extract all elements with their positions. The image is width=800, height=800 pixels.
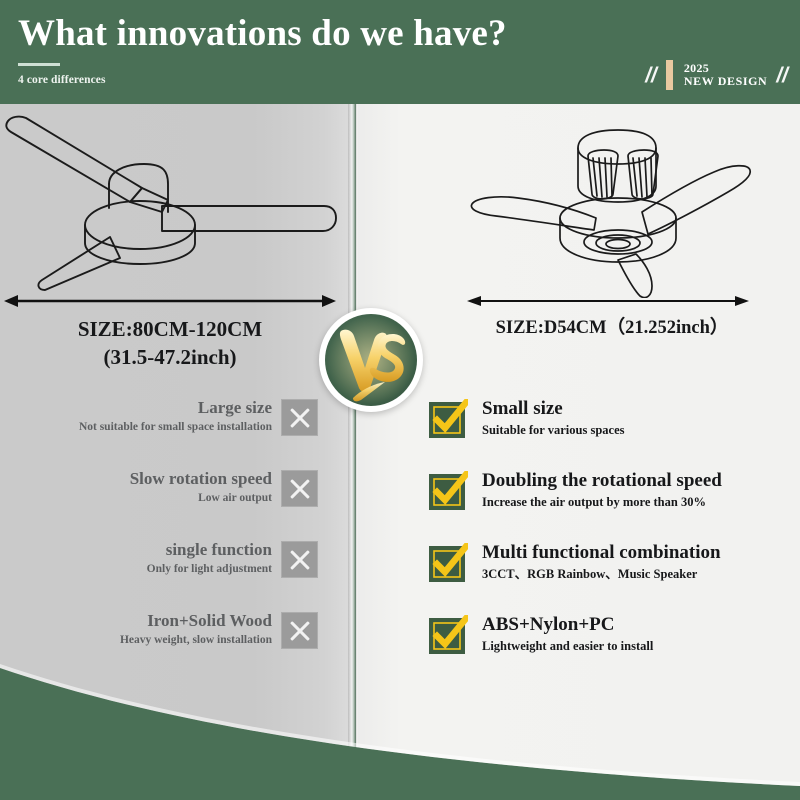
feature-list-left: Large size Not suitable for small space … — [0, 398, 318, 682]
dimension-arrow-right — [462, 290, 754, 312]
check-icon — [428, 543, 468, 583]
feature-subtitle: Increase the air output by more than 30% — [482, 495, 722, 510]
check-icon — [428, 471, 468, 511]
vs-badge-inner — [325, 314, 417, 406]
feature-text: single function Only for light adjustmen… — [147, 540, 272, 577]
badge-text-group: 2025 NEW DESIGN — [682, 62, 767, 89]
feature-text: Multi functional combination 3CCT、RGB Ra… — [482, 542, 721, 582]
x-icon — [281, 399, 318, 436]
feature-text: Slow rotation speed Low air output — [130, 469, 272, 506]
feature-subtitle: Only for light adjustment — [147, 563, 272, 577]
feature-title: Doubling the rotational speed — [482, 470, 722, 492]
feature-subtitle: Heavy weight, slow installation — [120, 634, 272, 648]
feature-title: ABS+Nylon+PC — [482, 614, 653, 636]
feature-subtitle: 3CCT、RGB Rainbow、Music Speaker — [482, 567, 721, 582]
feature-title: Multi functional combination — [482, 542, 721, 564]
page-subtitle: 4 core differences — [18, 74, 106, 86]
slash-right-icon: // — [776, 65, 788, 86]
page-fold-divider — [348, 104, 358, 800]
feature-title: Large size — [79, 398, 272, 418]
feature-text: Small size Suitable for various spaces — [482, 398, 625, 438]
list-item: ABS+Nylon+PC Lightweight and easier to i… — [428, 614, 796, 655]
feature-text: ABS+Nylon+PC Lightweight and easier to i… — [482, 614, 653, 654]
feature-list-right: Small size Suitable for various spaces D… — [428, 398, 796, 686]
vs-badge — [319, 308, 423, 412]
slash-left-icon: // — [645, 65, 657, 86]
badge-year: 2025 — [684, 62, 767, 75]
infographic-canvas: SIZE:80CM-120CM (31.5-47.2inch) SIZE:D54… — [0, 0, 800, 800]
check-icon — [428, 399, 468, 439]
feature-text: Iron+Solid Wood Heavy weight, slow insta… — [120, 611, 272, 648]
year-badge: // 2025 NEW DESIGN // — [645, 58, 788, 92]
feature-subtitle: Suitable for various spaces — [482, 423, 625, 438]
list-item: Iron+Solid Wood Heavy weight, slow insta… — [0, 611, 318, 649]
accent-rule — [18, 63, 60, 66]
feature-subtitle: Low air output — [130, 492, 272, 506]
size-right-line1: SIZE:D54CM（21.252inch） — [462, 316, 762, 340]
badge-label: NEW DESIGN — [684, 75, 767, 88]
feature-text: Large size Not suitable for small space … — [79, 398, 272, 435]
list-item: Doubling the rotational speed Increase t… — [428, 470, 796, 511]
header-bar: What innovations do we have? 4 core diff… — [0, 0, 800, 104]
feature-subtitle: Lightweight and easier to install — [482, 639, 653, 654]
list-item: Multi functional combination 3CCT、RGB Ra… — [428, 542, 796, 583]
list-item: Large size Not suitable for small space … — [0, 398, 318, 436]
page-title: What innovations do we have? — [18, 12, 507, 55]
ceiling-fan-illustration-large — [2, 112, 346, 292]
feature-title: Iron+Solid Wood — [120, 611, 272, 631]
feature-title: Small size — [482, 398, 625, 420]
list-item: Slow rotation speed Low air output — [0, 469, 318, 507]
dimension-arrow-left — [0, 290, 344, 312]
ceiling-fan-illustration-small — [466, 126, 762, 298]
size-caption-left: SIZE:80CM-120CM (31.5-47.2inch) — [0, 316, 340, 372]
size-left-line2: (31.5-47.2inch) — [0, 344, 340, 372]
size-left-line1: SIZE:80CM-120CM — [0, 316, 340, 344]
vs-flame-icon — [325, 314, 417, 406]
feature-title: Slow rotation speed — [130, 469, 272, 489]
check-icon — [428, 615, 468, 655]
feature-subtitle: Not suitable for small space installatio… — [79, 421, 272, 435]
x-icon — [281, 470, 318, 507]
list-item: Small size Suitable for various spaces — [428, 398, 796, 439]
x-icon — [281, 612, 318, 649]
feature-text: Doubling the rotational speed Increase t… — [482, 470, 722, 510]
size-caption-right: SIZE:D54CM（21.252inch） — [462, 316, 762, 340]
x-icon — [281, 541, 318, 578]
badge-accent-bar — [666, 60, 673, 90]
list-item: single function Only for light adjustmen… — [0, 540, 318, 578]
feature-title: single function — [147, 540, 272, 560]
